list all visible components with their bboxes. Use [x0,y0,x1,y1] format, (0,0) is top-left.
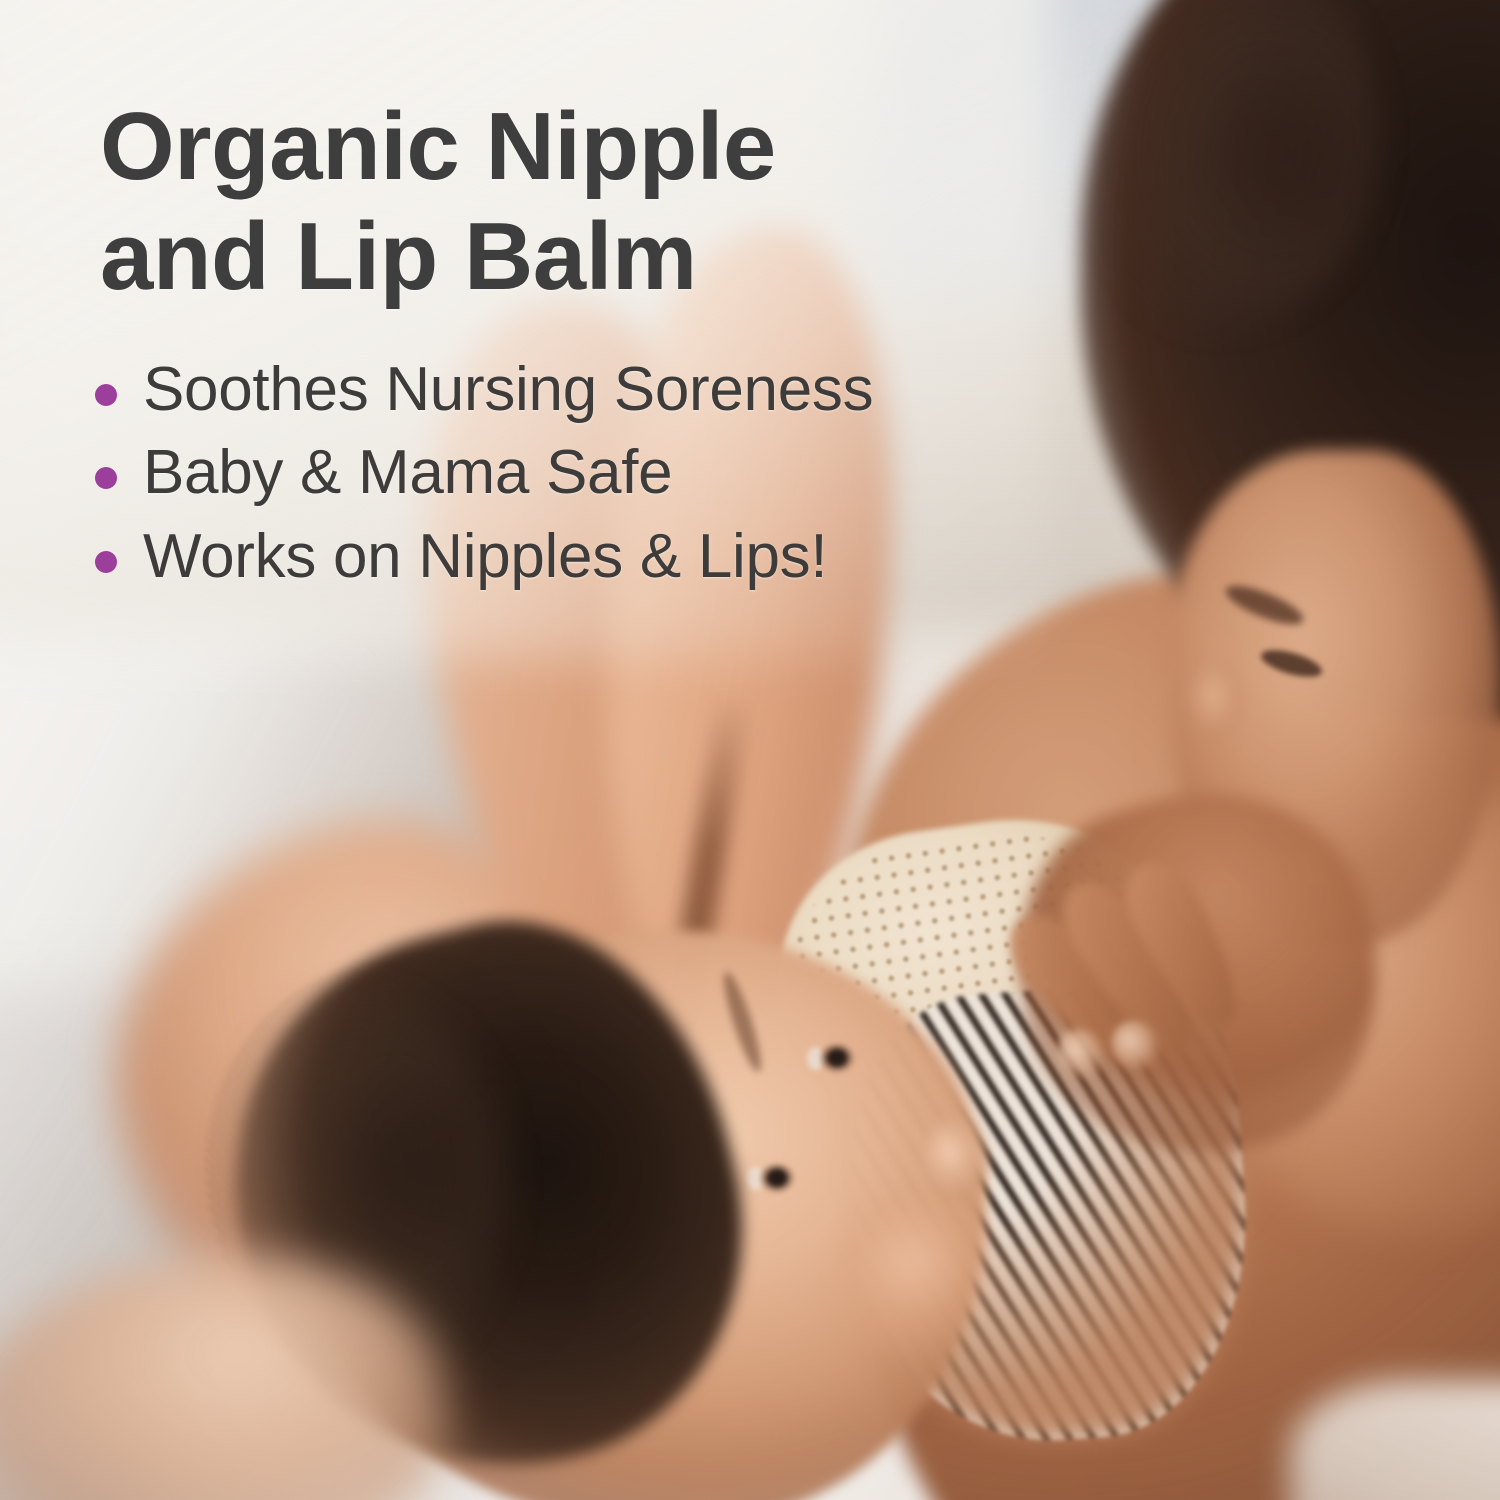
purple-dot-bullet-icon [95,384,117,406]
purple-dot-bullet-icon [95,467,117,489]
benefit-label: Soothes Nursing Soreness [143,358,873,422]
purple-dot-bullet-icon [95,551,117,573]
page-title: Organic Nipple and Lip Balm [100,92,920,313]
baby-eye [818,1043,857,1076]
baby-eye [758,1163,797,1196]
mother-nose [1188,660,1248,750]
benefit-label: Works on Nipples & Lips! [143,525,827,589]
benefit-label: Baby & Mama Safe [143,441,672,505]
list-item: Soothes Nursing Soreness [95,358,995,422]
benefits-list: Soothes Nursing Soreness Baby & Mama Saf… [95,358,995,608]
baby-cheek [840,1200,1005,1365]
list-item: Works on Nipples & Lips! [95,525,995,589]
list-item: Baby & Mama Safe [95,441,995,505]
product-listing-image: Organic Nipple and Lip Balm Soothes Nurs… [0,0,1500,1500]
